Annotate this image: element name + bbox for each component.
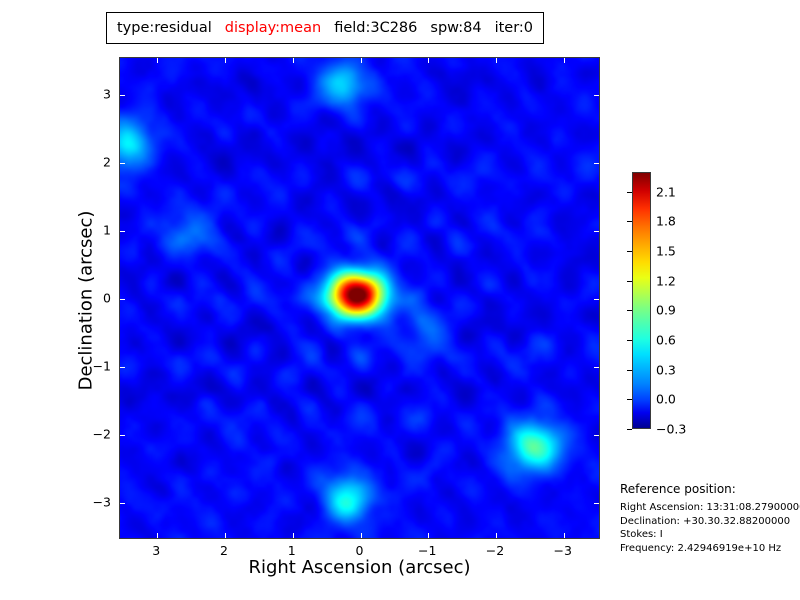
colorbar[interactable]: 2.11.81.51.20.90.60.30.0−0.3 bbox=[632, 172, 651, 429]
reference-right-ascension: Right Ascension: 13:31:08.27900000 bbox=[620, 501, 798, 515]
colorbar-tick-label: 0.6 bbox=[656, 333, 676, 348]
y-tick-mark bbox=[120, 299, 125, 300]
image-info-titlebar: type:residualdisplay:meanfield:3C286spw:… bbox=[106, 12, 544, 44]
reference-declination: Declination: +30.30.32.88200000 bbox=[620, 515, 798, 529]
x-tick-mark bbox=[157, 58, 158, 63]
y-tick-mark bbox=[594, 163, 599, 164]
sky-image-plot[interactable] bbox=[119, 57, 600, 539]
x-tick-label: 2 bbox=[220, 543, 228, 558]
x-tick-mark bbox=[428, 533, 429, 538]
y-tick-label: −1 bbox=[85, 358, 111, 373]
reference-position-block: Reference position: Right Ascension: 13:… bbox=[620, 482, 798, 555]
y-tick-label: 2 bbox=[85, 155, 111, 170]
x-tick-mark bbox=[564, 58, 565, 63]
x-tick-mark bbox=[293, 58, 294, 63]
colorbar-tick-label: 2.1 bbox=[656, 184, 676, 199]
x-tick-mark bbox=[496, 58, 497, 63]
x-tick-label: −2 bbox=[486, 543, 504, 558]
x-tick-label: −1 bbox=[418, 543, 436, 558]
colorbar-tick-mark bbox=[627, 221, 632, 222]
titlebar-token-1: display:mean bbox=[225, 20, 321, 36]
x-tick-mark bbox=[361, 533, 362, 538]
x-tick-label: −3 bbox=[554, 543, 572, 558]
x-tick-mark bbox=[157, 533, 158, 538]
y-tick-label: −2 bbox=[85, 426, 111, 441]
colorbar-tick-mark bbox=[627, 340, 632, 341]
colorbar-tick-mark bbox=[627, 370, 632, 371]
x-tick-label: 0 bbox=[356, 543, 364, 558]
x-tick-mark bbox=[428, 58, 429, 63]
colorbar-tick-mark bbox=[627, 310, 632, 311]
y-tick-mark bbox=[594, 299, 599, 300]
colorbar-tick-label: 1.5 bbox=[656, 244, 676, 259]
titlebar-token-0: type:residual bbox=[117, 20, 212, 36]
y-tick-mark bbox=[594, 231, 599, 232]
y-tick-mark bbox=[120, 503, 125, 504]
colorbar-tick-label: 0.0 bbox=[656, 392, 676, 407]
y-tick-mark bbox=[120, 367, 125, 368]
colorbar-tick-mark bbox=[627, 429, 632, 430]
colorbar-tick-mark bbox=[627, 251, 632, 252]
x-tick-mark bbox=[225, 533, 226, 538]
titlebar-token-4: iter:0 bbox=[495, 20, 533, 36]
colorbar-tick-mark bbox=[627, 192, 632, 193]
colorbar-tick-label: 1.2 bbox=[656, 273, 676, 288]
x-tick-mark bbox=[496, 533, 497, 538]
x-tick-label: 1 bbox=[288, 543, 296, 558]
x-tick-mark bbox=[564, 533, 565, 538]
x-tick-mark bbox=[293, 533, 294, 538]
colorbar-tick-mark bbox=[627, 399, 632, 400]
y-tick-mark bbox=[594, 435, 599, 436]
colorbar-gradient bbox=[632, 172, 651, 429]
colorbar-tick-label: −0.3 bbox=[656, 422, 686, 437]
colorbar-tick-label: 0.3 bbox=[656, 362, 676, 377]
y-tick-label: 0 bbox=[85, 291, 111, 306]
titlebar-token-2: field:3C286 bbox=[334, 20, 417, 36]
y-tick-label: 1 bbox=[85, 223, 111, 238]
colorbar-tick-label: 1.8 bbox=[656, 214, 676, 229]
y-tick-mark bbox=[120, 231, 125, 232]
y-tick-label: 3 bbox=[85, 87, 111, 102]
y-tick-label: −3 bbox=[85, 494, 111, 509]
x-tick-mark bbox=[361, 58, 362, 63]
y-tick-mark bbox=[120, 435, 125, 436]
colorbar-tick-label: 0.9 bbox=[656, 303, 676, 318]
x-tick-label: 3 bbox=[152, 543, 160, 558]
y-tick-mark bbox=[120, 95, 125, 96]
reference-stokes: Stokes: I bbox=[620, 528, 798, 542]
x-axis-label: Right Ascension (arcsec) bbox=[119, 557, 600, 578]
titlebar-token-3: spw:84 bbox=[430, 20, 481, 36]
y-tick-mark bbox=[594, 95, 599, 96]
residual-image-canvas[interactable] bbox=[120, 58, 599, 538]
x-tick-mark bbox=[225, 58, 226, 63]
colorbar-tick-mark bbox=[627, 281, 632, 282]
y-tick-mark bbox=[594, 367, 599, 368]
y-tick-mark bbox=[594, 503, 599, 504]
reference-frequency: Frequency: 2.42946919e+10 Hz bbox=[620, 542, 798, 556]
reference-position-heading: Reference position: bbox=[620, 482, 798, 496]
y-tick-mark bbox=[120, 163, 125, 164]
